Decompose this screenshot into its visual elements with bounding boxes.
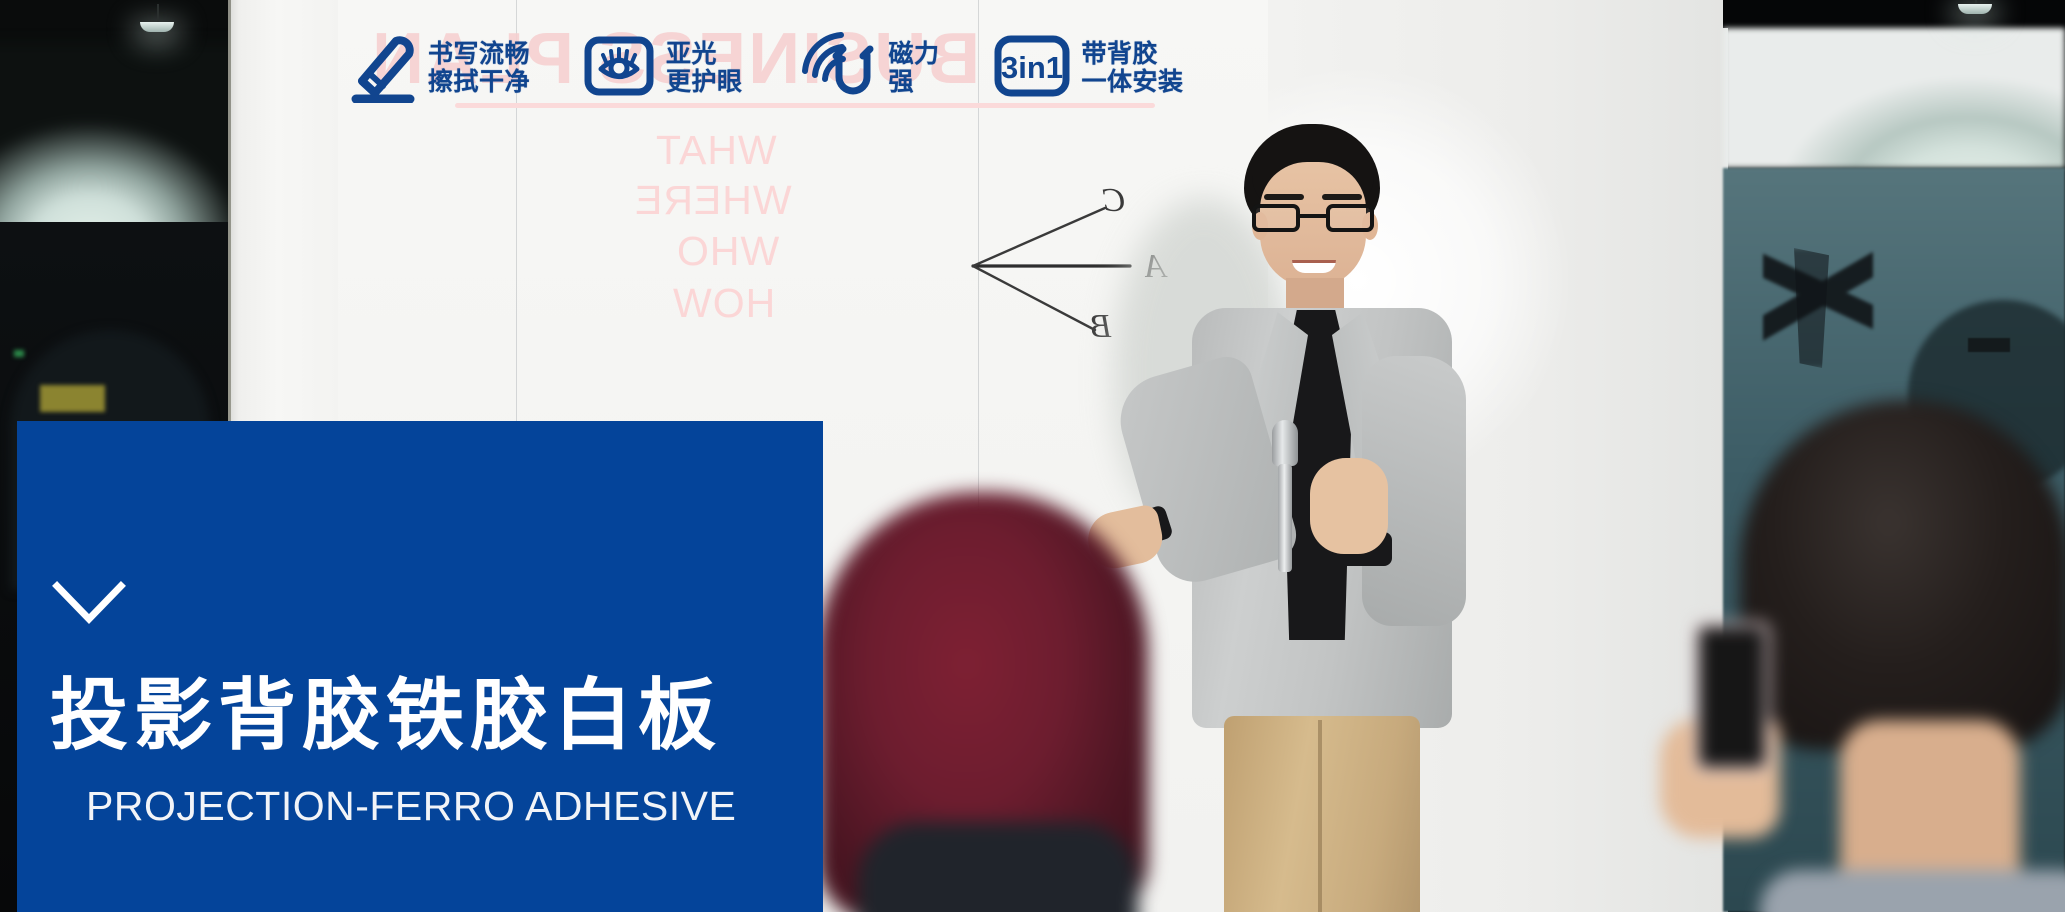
- feature-strong-magnetism[interactable]: 磁力 强: [797, 29, 940, 108]
- chevron-down-icon[interactable]: [52, 581, 126, 630]
- feature-line-2: 擦拭干净: [428, 68, 530, 96]
- feature-line-2: 更护眼: [666, 68, 743, 96]
- product-banner: BUSINESS PLAN WHAT WHERE WHO HOW A B C: [0, 0, 2065, 912]
- eye-care-icon: [584, 31, 654, 106]
- pendant-lamp: [1958, 4, 1992, 14]
- audience-member-red-hair: [818, 492, 1148, 912]
- feature-label: 亚光 更护眼: [666, 40, 743, 96]
- feature-line-2: 强: [889, 68, 915, 96]
- feature-badge-row: 书写流畅 擦拭干净: [350, 22, 1184, 114]
- whiteboard-word: WHAT: [655, 127, 777, 174]
- three-in-one-text: 3in1: [1001, 50, 1063, 85]
- background-badge: [1968, 338, 2010, 352]
- presenter-brow: [1264, 194, 1304, 200]
- feature-line-1: 带背胶: [1082, 40, 1159, 68]
- three-in-one-badge-icon: 3in1: [994, 35, 1070, 102]
- glass-top-band: [1723, 0, 2065, 28]
- green-led: [14, 350, 24, 357]
- whiteboard-word: HOW: [672, 280, 775, 327]
- microphone: [1272, 420, 1298, 570]
- presenter-trousers: [1224, 716, 1420, 912]
- feature-adhesive-backing[interactable]: 3in1 带背胶 一体安装: [994, 35, 1184, 102]
- pendant-lamp: [140, 22, 174, 32]
- feature-label: 带背胶 一体安装: [1082, 40, 1184, 96]
- glass-lit-band: [1723, 28, 2065, 168]
- presenter-mouth: [1292, 260, 1336, 273]
- presenter-trouser-seam: [1318, 720, 1322, 912]
- pencil-writing-icon: [350, 29, 416, 108]
- page-subtitle: PROJECTION-FERRO ADHESIVE: [86, 783, 736, 830]
- presenter-figure: [1100, 120, 1520, 912]
- yellow-card: [40, 385, 105, 412]
- page-title: 投影背胶铁胶白板: [50, 677, 722, 755]
- audience-member-with-phone: [1700, 400, 2065, 912]
- whiteboard-word: WHO: [676, 228, 779, 275]
- smartphone: [1694, 622, 1770, 772]
- presenter-hand-right: [1310, 458, 1388, 554]
- feature-label: 磁力 强: [889, 40, 940, 96]
- presenter-glasses: [1252, 204, 1374, 232]
- feature-smooth-writing[interactable]: 书写流畅 擦拭干净: [350, 29, 530, 108]
- wall-glow: [0, 42, 240, 242]
- feature-line-2: 一体安装: [1082, 68, 1184, 96]
- feature-matte-eye-care[interactable]: 亚光 更护眼: [584, 31, 743, 106]
- whiteboard-word: WHERE: [634, 177, 792, 224]
- feature-line-1: 书写流畅: [428, 40, 530, 68]
- feature-label: 书写流畅 擦拭干净: [428, 40, 530, 96]
- presenter-brow: [1322, 194, 1362, 200]
- title-panel: [17, 421, 823, 912]
- magnet-icon: [797, 29, 877, 108]
- feature-line-1: 磁力: [889, 40, 940, 68]
- feature-line-1: 亚光: [666, 40, 717, 68]
